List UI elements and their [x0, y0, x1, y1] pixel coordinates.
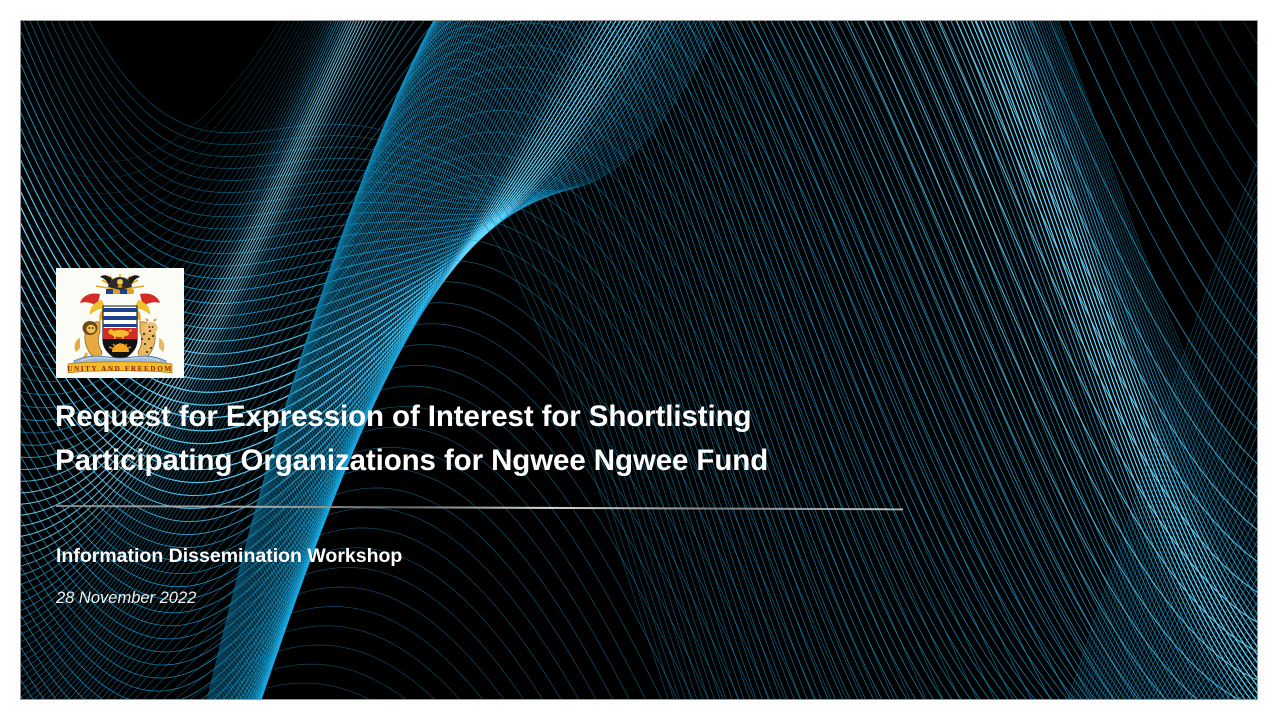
page-title-line-1: Request for Expression of Interest for S…	[55, 395, 945, 439]
coat-of-arms-logo: UNITY AND FREEDOM	[56, 268, 184, 378]
motto-scroll: UNITY AND FREEDOM	[67, 362, 173, 373]
shield	[103, 306, 137, 360]
title-divider-rule	[56, 505, 903, 510]
slide-frame: UNITY AND FREEDOM Request for Expression…	[20, 20, 1258, 700]
page-title-line-2: Participating Organizations for Ngwee Ng…	[55, 439, 945, 483]
slide-content: UNITY AND FREEDOM Request for Expression…	[21, 21, 1257, 699]
motto-text: UNITY AND FREEDOM	[67, 365, 173, 373]
title-block: Request for Expression of Interest for S…	[55, 395, 945, 483]
subtitle-text: Information Dissemination Workshop	[56, 543, 402, 569]
date-text: 28 November 2022	[56, 587, 196, 609]
